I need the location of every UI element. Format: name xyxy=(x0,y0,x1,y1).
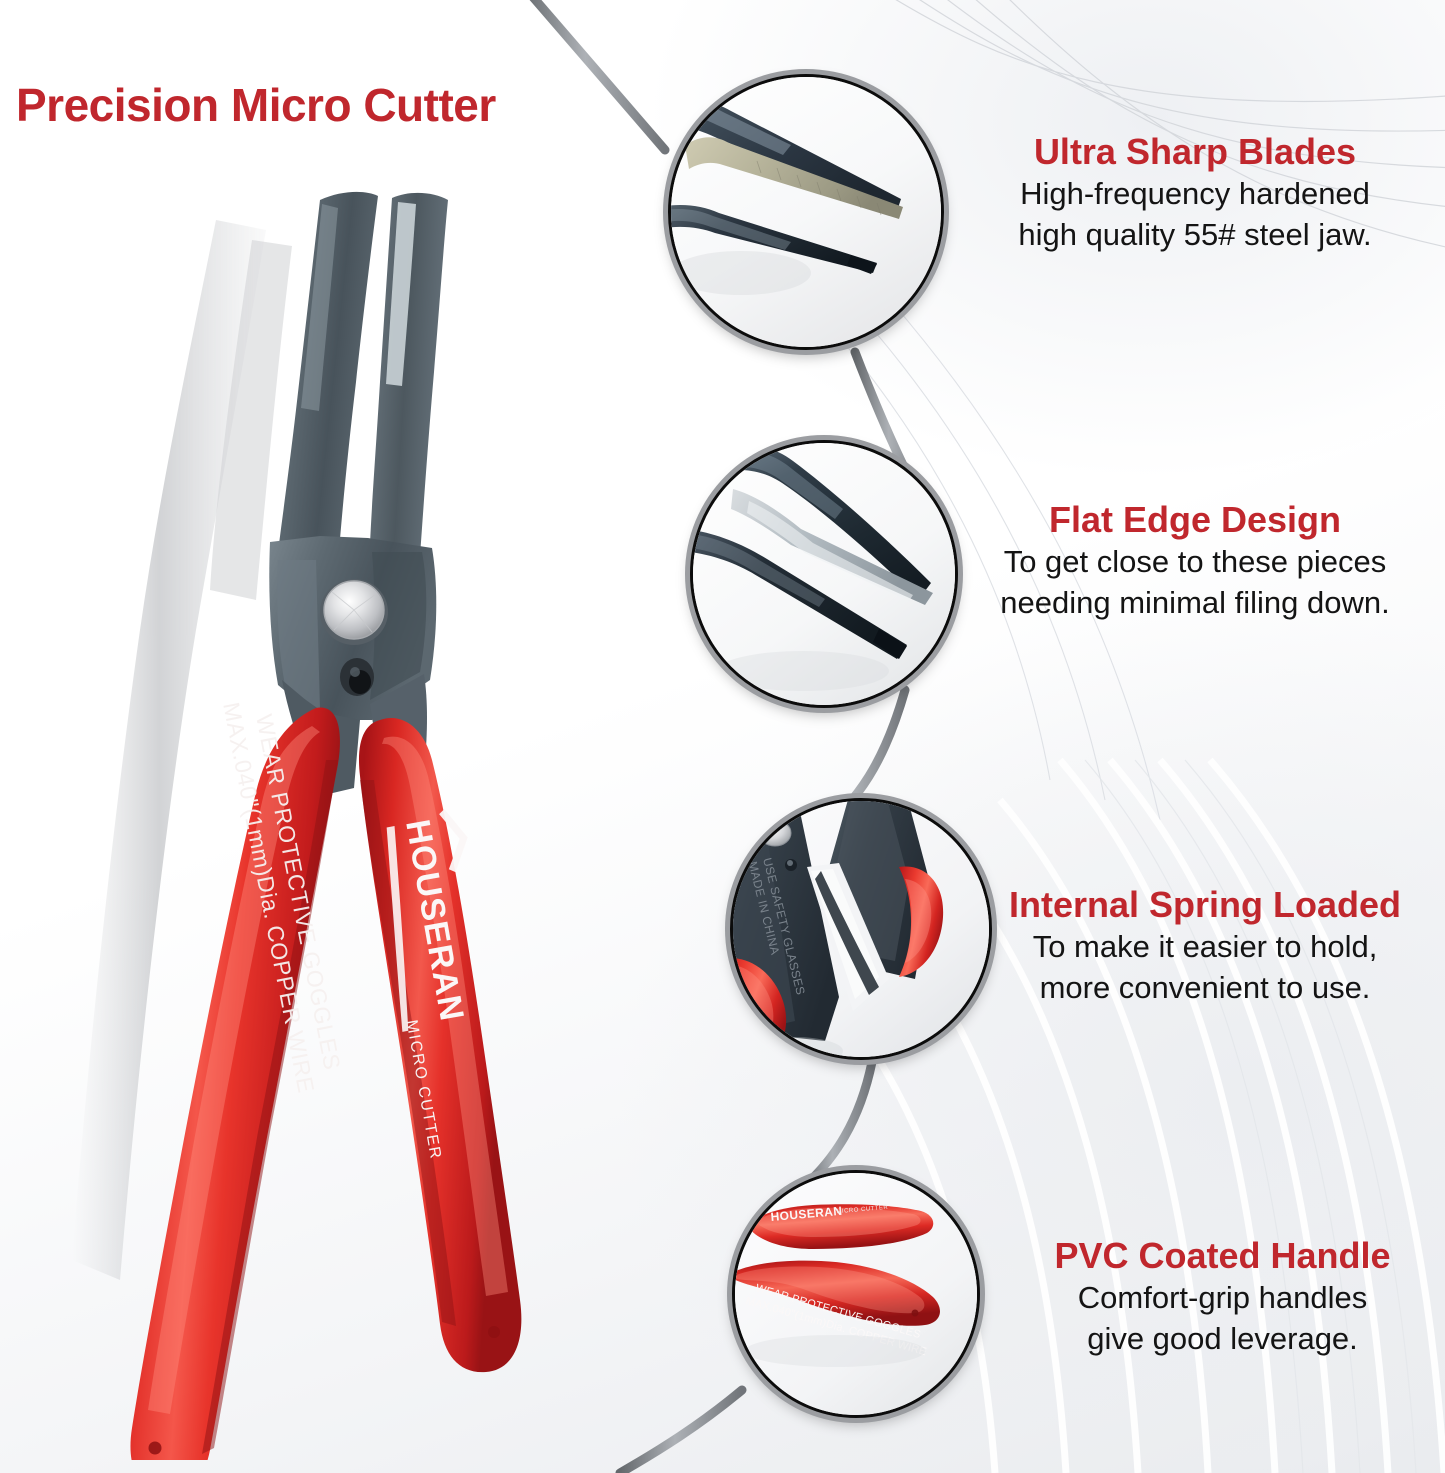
page-title: Precision Micro Cutter xyxy=(16,78,496,132)
feature-block-internal-spring-loaded: Internal Spring Loaded To make it easier… xyxy=(965,885,1445,1006)
flat-edge-closeup-image xyxy=(693,443,955,705)
feature-block-ultra-sharp-blades: Ultra Sharp Blades High-frequency harden… xyxy=(945,132,1445,253)
feature-heading: Flat Edge Design xyxy=(945,500,1445,540)
product-photo-micro-cutter: WEAR PROTECTIVE GOGGLES MAX.040"(1mm)Dia… xyxy=(20,160,660,1460)
feature-block-pvc-coated-handle: PVC Coated Handle Comfort-grip handles g… xyxy=(1000,1236,1445,1357)
callout-circle-ultra-sharp-blades xyxy=(668,74,944,350)
infographic-canvas: Precision Micro Cutter xyxy=(0,0,1445,1473)
spring-mechanism-closeup-image: USE SAFETY GLASSES MADE IN CHINA xyxy=(733,801,989,1057)
feature-body-line1: High-frequency hardened xyxy=(945,175,1445,212)
feature-body-line1: To make it easier to hold, xyxy=(965,928,1445,965)
blade-tips-closeup-image xyxy=(671,77,941,347)
pvc-handles-closeup-image: HOUSERAN MICRO CUTTER WEAR PROTECTIVE GO… xyxy=(735,1173,977,1415)
feature-heading: Internal Spring Loaded xyxy=(965,885,1445,925)
callout-circle-internal-spring-loaded: USE SAFETY GLASSES MADE IN CHINA xyxy=(730,798,992,1060)
feature-body-line2: needing minimal filing down. xyxy=(945,584,1445,621)
feature-body-line2: give good leverage. xyxy=(1000,1320,1445,1357)
feature-heading: PVC Coated Handle xyxy=(1000,1236,1445,1276)
feature-body-line2: more convenient to use. xyxy=(965,969,1445,1006)
callout-circle-flat-edge-design xyxy=(690,440,958,708)
feature-block-flat-edge-design: Flat Edge Design To get close to these p… xyxy=(945,500,1445,621)
feature-heading: Ultra Sharp Blades xyxy=(945,132,1445,172)
feature-body-line1: Comfort-grip handles xyxy=(1000,1279,1445,1316)
callout-circle-pvc-coated-handle: HOUSERAN MICRO CUTTER WEAR PROTECTIVE GO… xyxy=(732,1170,980,1418)
feature-body-line2: high quality 55# steel jaw. xyxy=(945,216,1445,253)
feature-body-line1: To get close to these pieces xyxy=(945,543,1445,580)
